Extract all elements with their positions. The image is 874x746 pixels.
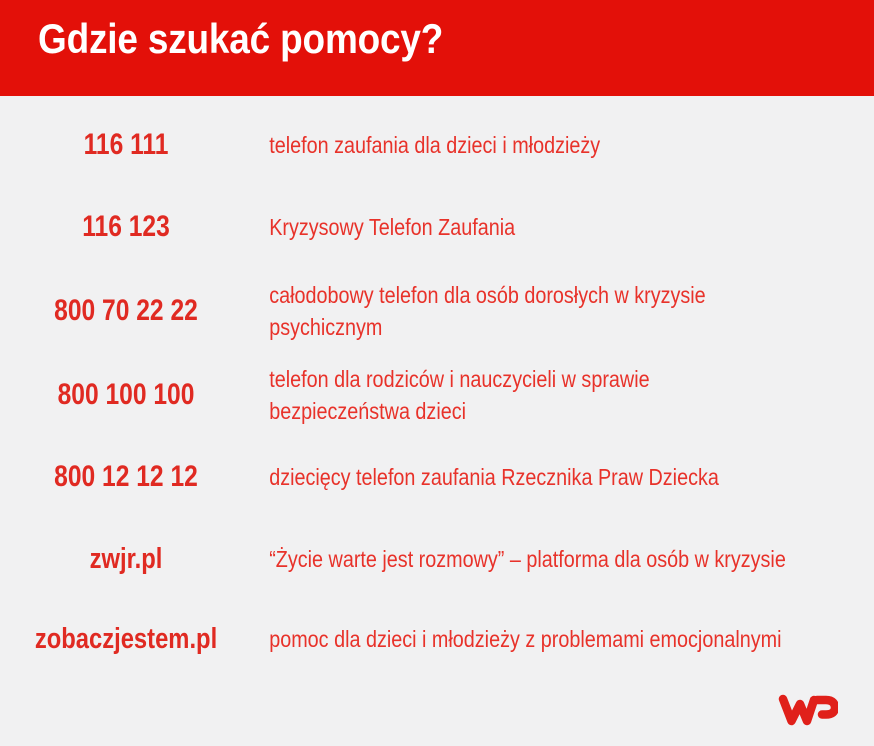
contact-description: całodobowy telefon dla osób dorosłych w … (252, 279, 787, 343)
wp-logo (778, 693, 838, 727)
contacts-list: 116 111 telefon zaufania dla dzieci i mł… (0, 96, 874, 656)
contact-number: 116 111 (23, 128, 230, 162)
contact-description: telefon zaufania dla dzieci i młodzieży (252, 129, 787, 161)
contact-number: zobaczjestem.pl (23, 622, 230, 656)
infographic-root: Gdzie szukać pomocy? 116 111 telefon zau… (0, 0, 874, 746)
list-item: 800 12 12 12 dziecięcy telefon zaufania … (0, 446, 874, 508)
list-item: 800 100 100 telefon dla rodziców i naucz… (0, 356, 874, 434)
list-item: zwjr.pl “Życie warte jest rozmowy” – pla… (0, 520, 874, 598)
list-item: 116 111 telefon zaufania dla dzieci i mł… (0, 114, 874, 176)
header-band: Gdzie szukać pomocy? (0, 0, 874, 96)
contact-description: dziecięcy telefon zaufania Rzecznika Pra… (252, 461, 787, 493)
contact-description: pomoc dla dzieci i młodzieży z problemam… (252, 623, 787, 655)
contact-number: 800 100 100 (23, 378, 230, 412)
contact-number: 116 123 (23, 210, 230, 244)
list-item: zobaczjestem.pl pomoc dla dzieci i młodz… (0, 600, 874, 678)
contact-number: 800 12 12 12 (23, 460, 230, 494)
page-title: Gdzie szukać pomocy? (38, 14, 443, 64)
contact-number: 800 70 22 22 (23, 294, 230, 328)
contact-description: “Życie warte jest rozmowy” – platforma d… (252, 543, 787, 575)
contact-description: telefon dla rodziców i nauczycieli w spr… (252, 363, 787, 427)
list-item: 800 70 22 22 całodobowy telefon dla osób… (0, 272, 874, 350)
contact-number: zwjr.pl (23, 542, 230, 576)
list-item: 116 123 Kryzysowy Telefon Zaufania (0, 196, 874, 258)
contact-description: Kryzysowy Telefon Zaufania (252, 211, 787, 243)
